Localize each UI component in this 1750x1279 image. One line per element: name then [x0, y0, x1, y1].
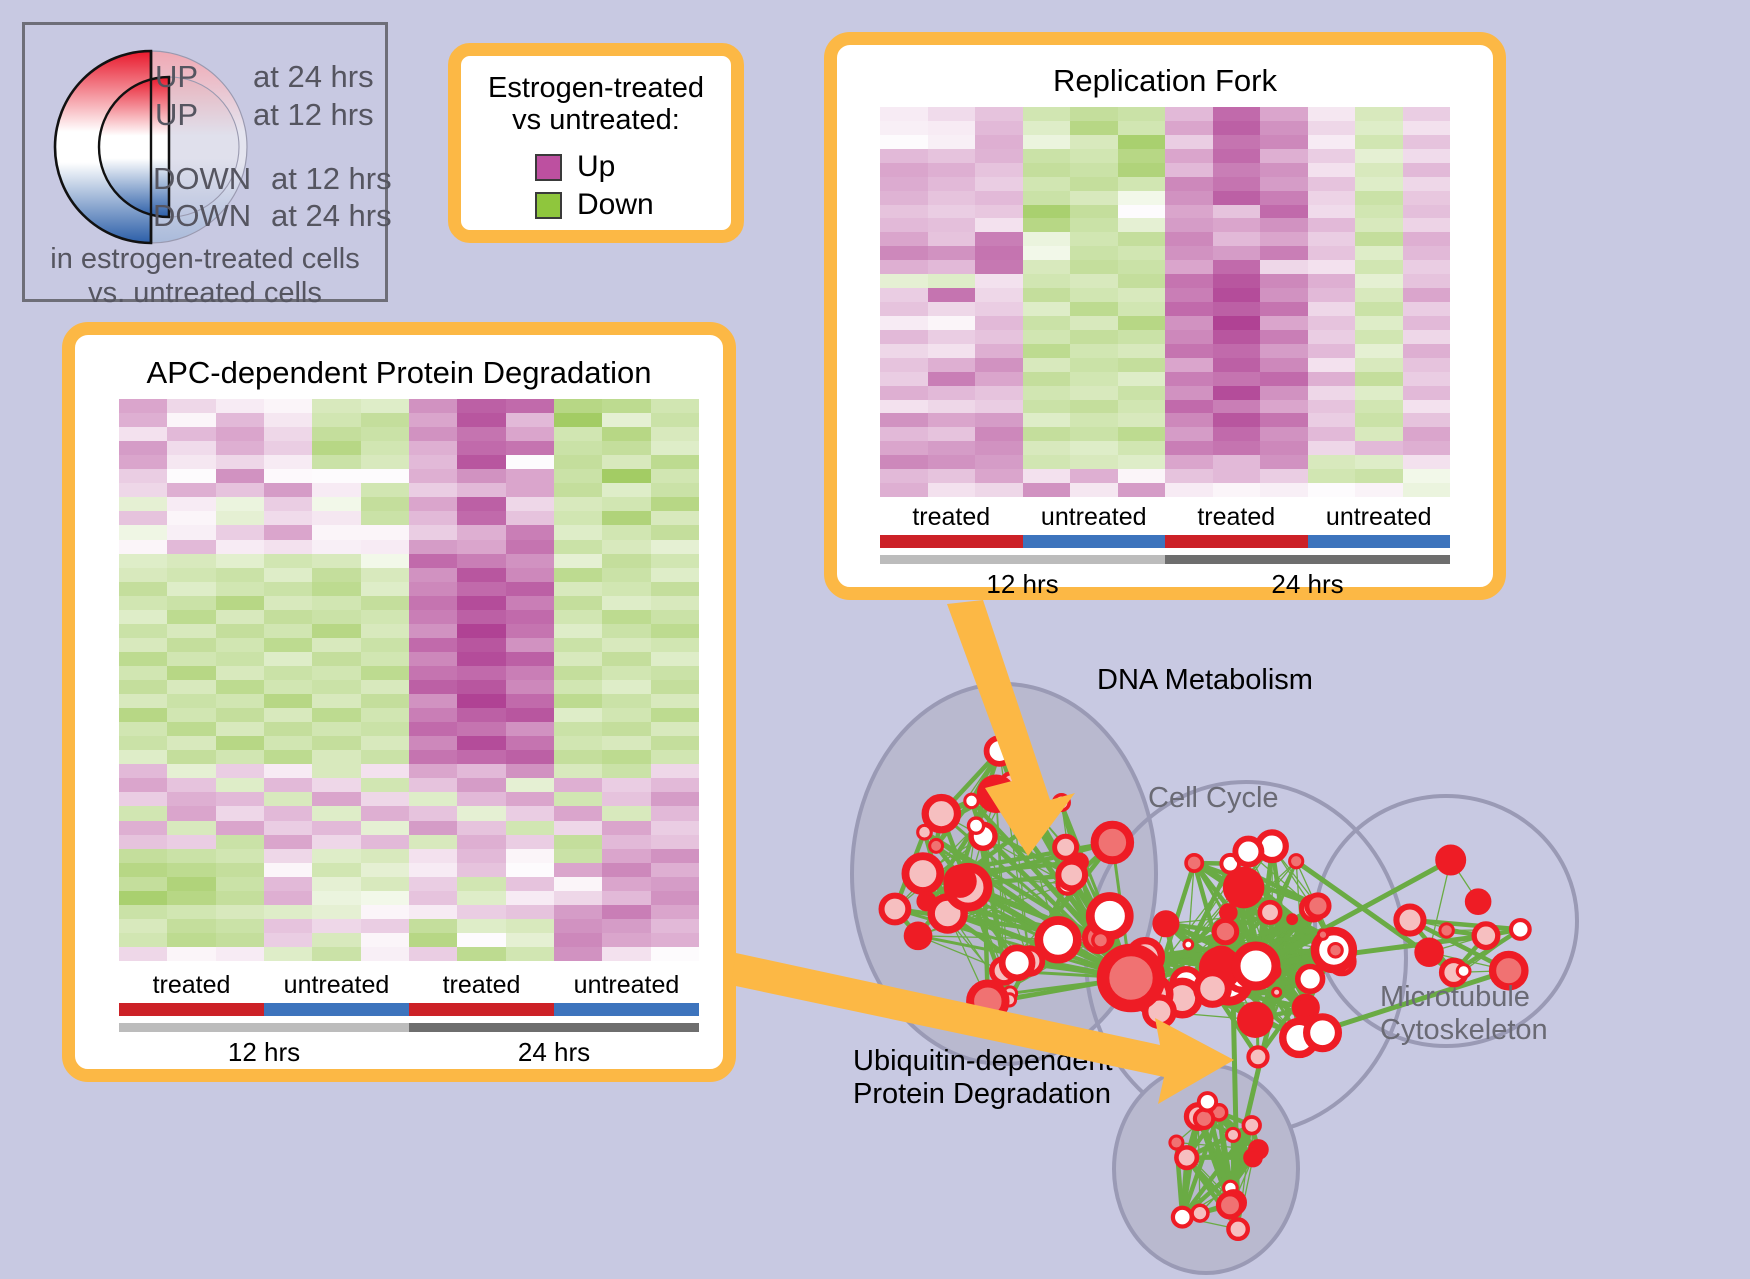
heatmap-cell	[264, 792, 312, 806]
heatmap-cell	[457, 863, 505, 877]
heatmap-cell	[361, 638, 409, 652]
heatmap-cell	[1308, 260, 1356, 274]
heatmap-cell	[457, 441, 505, 455]
legend-heading-line2: vs untreated:	[461, 104, 731, 136]
network-node[interactable]	[1170, 1136, 1183, 1149]
network-node[interactable]	[1288, 915, 1297, 924]
heatmap-cell	[312, 540, 360, 554]
network-node[interactable]	[905, 856, 940, 891]
heatmap-cell	[1213, 274, 1261, 288]
heatmap-cell	[1403, 205, 1451, 219]
network-node[interactable]	[1307, 1017, 1339, 1049]
heatmap-cell	[312, 511, 360, 525]
heatmap-cell	[554, 891, 602, 905]
colorwheel-caption-line1: in estrogen-treated cells	[25, 243, 385, 276]
network-node[interactable]	[1235, 839, 1261, 865]
heatmap-cell	[312, 427, 360, 441]
apc-condition-labels: treateduntreatedtreateduntreated	[119, 971, 699, 1000]
heatmap-cell	[167, 624, 215, 638]
heatmap-cell	[1118, 232, 1166, 246]
heatmap-cell	[167, 399, 215, 413]
condition-color-bar	[264, 1003, 409, 1016]
heatmap-cell	[1165, 218, 1213, 232]
heatmap-cell	[1403, 413, 1451, 427]
pathway-network-diagram	[786, 606, 1750, 1279]
network-node[interactable]	[1103, 950, 1159, 1006]
heatmap-cell	[1023, 483, 1071, 497]
network-node[interactable]	[930, 839, 943, 852]
heatmap-cell	[1118, 288, 1166, 302]
network-node[interactable]	[977, 774, 1016, 813]
heatmap-cell	[216, 905, 264, 919]
heatmap-cell	[409, 877, 457, 891]
network-node[interactable]	[1214, 920, 1237, 943]
heatmap-cell	[1403, 135, 1451, 149]
heatmap-cell	[119, 399, 167, 413]
heatmap-cell	[1213, 121, 1261, 135]
network-node[interactable]	[1197, 973, 1229, 1005]
heatmap-cell	[167, 596, 215, 610]
heatmap-cell	[312, 497, 360, 511]
network-node[interactable]	[1055, 836, 1077, 858]
heatmap-cell	[1355, 191, 1403, 205]
heatmap-cell	[1070, 121, 1118, 135]
heatmap-cell	[167, 554, 215, 568]
heatmap-cell	[880, 400, 928, 414]
heatmap-cell	[1308, 191, 1356, 205]
heatmap-cell	[1023, 413, 1071, 427]
heatmap-cell	[928, 218, 976, 232]
network-node[interactable]	[1438, 847, 1463, 872]
heatmap-cell	[975, 344, 1023, 358]
network-node[interactable]	[1457, 965, 1470, 978]
heatmap-cell	[1165, 316, 1213, 330]
heatmap-cell	[1403, 344, 1451, 358]
heatmap-cell	[216, 427, 264, 441]
heatmap-cell	[119, 905, 167, 919]
heatmap-cell	[651, 525, 699, 539]
heatmap-cell	[264, 877, 312, 891]
heatmap-cell	[1308, 107, 1356, 121]
heatmap-cell	[216, 469, 264, 483]
heatmap-cell	[880, 386, 928, 400]
heatmap-cell	[506, 877, 554, 891]
heatmap-cell	[554, 708, 602, 722]
heatmap-cell	[312, 750, 360, 764]
heatmap-cell	[506, 835, 554, 849]
heatmap-cell	[409, 694, 457, 708]
heatmap-cell	[880, 427, 928, 441]
heatmap-cell	[457, 905, 505, 919]
network-node[interactable]	[1002, 948, 1032, 978]
heatmap-cell	[409, 792, 457, 806]
heatmap-cell	[1403, 288, 1451, 302]
heatmap-cell	[119, 933, 167, 947]
network-node[interactable]	[1199, 1093, 1216, 1110]
heatmap-cell	[602, 877, 650, 891]
heatmap-cell	[1213, 455, 1261, 469]
heatmap-cell	[119, 413, 167, 427]
network-node[interactable]	[1273, 988, 1281, 996]
heatmap-cell	[880, 288, 928, 302]
heatmap-cell	[167, 722, 215, 736]
network-node[interactable]	[1290, 855, 1303, 868]
heatmap-cell	[602, 806, 650, 820]
heatmap-cell	[1308, 121, 1356, 135]
network-node[interactable]	[1474, 924, 1498, 948]
heatmap-cell	[409, 806, 457, 820]
heatmap-cell	[880, 469, 928, 483]
apc-time-bar	[119, 1023, 699, 1032]
heatmap-cell	[1355, 469, 1403, 483]
heatmap-cell	[119, 652, 167, 666]
heatmap-cell	[602, 441, 650, 455]
heatmap-cell	[1355, 163, 1403, 177]
heatmap-cell	[216, 877, 264, 891]
heatmap-cell	[880, 177, 928, 191]
network-node[interactable]	[1058, 862, 1085, 889]
heatmap-cell	[975, 218, 1023, 232]
heatmap-cell	[409, 497, 457, 511]
heatmap-cell	[1118, 218, 1166, 232]
network-node[interactable]	[1221, 905, 1236, 920]
heatmap-cell	[264, 554, 312, 568]
heatmap-cell	[264, 427, 312, 441]
heatmap-cell	[554, 694, 602, 708]
heatmap-cell	[1165, 483, 1213, 497]
legend-label-up: Up	[577, 152, 615, 182]
heatmap-cell	[1023, 358, 1071, 372]
condition-label: treated	[1165, 503, 1308, 532]
heatmap-cell	[167, 877, 215, 891]
heatmap-cell	[119, 666, 167, 680]
heatmap-cell	[167, 821, 215, 835]
network-node[interactable]	[1176, 1147, 1197, 1168]
network-node[interactable]	[1236, 946, 1276, 986]
heatmap-cell	[554, 483, 602, 497]
heatmap-cell	[167, 540, 215, 554]
heatmap-cell	[602, 821, 650, 835]
colorwheel-term-up-12: UP	[155, 97, 198, 133]
heatmap-cell	[880, 135, 928, 149]
heatmap-cell	[216, 750, 264, 764]
heatmap-cell	[651, 441, 699, 455]
heatmap-cell	[361, 427, 409, 441]
heatmap-cell	[602, 568, 650, 582]
heatmap-cell	[602, 849, 650, 863]
network-node[interactable]	[1039, 920, 1078, 959]
heatmap-cell	[167, 764, 215, 778]
network-node[interactable]	[1467, 891, 1489, 913]
replication-fork-condition-bar	[880, 535, 1450, 548]
network-node[interactable]	[882, 896, 909, 923]
heatmap-cell	[167, 919, 215, 933]
heatmap-cell	[554, 905, 602, 919]
network-node[interactable]	[1396, 907, 1423, 934]
network-node[interactable]	[904, 921, 933, 950]
network-node[interactable]	[943, 865, 976, 898]
heatmap-cell	[1118, 483, 1166, 497]
heatmap-cell	[1213, 358, 1261, 372]
heatmap-cell	[1260, 302, 1308, 316]
heatmap-cell	[361, 877, 409, 891]
network-node[interactable]	[1155, 913, 1177, 935]
heatmap-cell	[361, 441, 409, 455]
heatmap-cell	[928, 135, 976, 149]
network-node[interactable]	[1095, 825, 1131, 861]
heatmap-cell	[1260, 344, 1308, 358]
heatmap-cell	[975, 149, 1023, 163]
heatmap-cell	[409, 835, 457, 849]
heatmap-cell	[651, 554, 699, 568]
heatmap-cell	[1023, 260, 1071, 274]
network-node[interactable]	[1184, 940, 1193, 949]
heatmap-cell	[602, 736, 650, 750]
heatmap-cell	[506, 736, 554, 750]
heatmap-cell	[880, 330, 928, 344]
heatmap-cell	[409, 680, 457, 694]
heatmap-cell	[1165, 107, 1213, 121]
figure-root: UP at 24 hrs UP at 12 hrs DOWN at 12 hrs…	[0, 0, 1750, 1279]
heatmap-cell	[409, 427, 457, 441]
network-node[interactable]	[925, 798, 957, 830]
network-node[interactable]	[970, 984, 1005, 1019]
network-node[interactable]	[1195, 1110, 1213, 1128]
network-node[interactable]	[1414, 937, 1444, 967]
heatmap-cell	[880, 246, 928, 260]
heatmap-cell	[1308, 274, 1356, 288]
heatmap-cell	[1260, 441, 1308, 455]
network-node[interactable]	[1298, 966, 1323, 991]
heatmap-cell	[1260, 386, 1308, 400]
heatmap-cell	[409, 441, 457, 455]
heatmap-cell	[119, 540, 167, 554]
heatmap-cell	[554, 596, 602, 610]
heatmap-cell	[216, 652, 264, 666]
heatmap-cell	[1308, 163, 1356, 177]
heatmap-cell	[1213, 344, 1261, 358]
heatmap-cell	[1165, 372, 1213, 386]
heatmap-cell	[361, 469, 409, 483]
heatmap-cell	[554, 441, 602, 455]
heatmap-cell	[506, 624, 554, 638]
replication-fork-title: Replication Fork	[837, 63, 1493, 99]
network-node[interactable]	[1237, 1001, 1273, 1037]
heatmap-cell	[880, 107, 928, 121]
heatmap-cell	[216, 821, 264, 835]
heatmap-cell	[554, 469, 602, 483]
heatmap-cell	[602, 540, 650, 554]
heatmap-cell	[602, 863, 650, 877]
heatmap-cell	[602, 666, 650, 680]
network-node[interactable]	[987, 738, 1013, 764]
network-node[interactable]	[1440, 924, 1453, 937]
heatmap-cell	[1165, 191, 1213, 205]
heatmap-cell	[651, 877, 699, 891]
heatmap-cell	[1118, 149, 1166, 163]
network-node[interactable]	[1245, 1150, 1261, 1166]
network-node[interactable]	[1093, 932, 1109, 948]
heatmap-cell	[409, 736, 457, 750]
heatmap-cell	[1260, 316, 1308, 330]
heatmap-cell	[651, 540, 699, 554]
network-node[interactable]	[1173, 1208, 1192, 1227]
heatmap-cell	[506, 821, 554, 835]
heatmap-cell	[1023, 469, 1071, 483]
time-label: 12 hrs	[880, 569, 1165, 600]
heatmap-cell	[1165, 232, 1213, 246]
heatmap-cell	[119, 596, 167, 610]
heatmap-cell	[1403, 441, 1451, 455]
network-node[interactable]	[1054, 795, 1070, 811]
heatmap-cell	[167, 582, 215, 596]
heatmap-cell	[651, 905, 699, 919]
heatmap-cell	[506, 554, 554, 568]
heatmap-cell	[651, 652, 699, 666]
heatmap-cell	[1023, 218, 1071, 232]
heatmap-cell	[216, 596, 264, 610]
heatmap-cell	[1023, 274, 1071, 288]
heatmap-cell	[312, 736, 360, 750]
heatmap-cell	[361, 554, 409, 568]
heatmap-cell	[554, 624, 602, 638]
time-color-bar	[880, 555, 1165, 564]
condition-label: treated	[409, 971, 554, 1000]
heatmap-cell	[119, 483, 167, 497]
heatmap-cell	[1070, 400, 1118, 414]
heatmap-cell	[1070, 344, 1118, 358]
heatmap-cell	[1165, 260, 1213, 274]
network-node[interactable]	[1186, 855, 1202, 871]
heatmap-cell	[651, 427, 699, 441]
heatmap-cell	[880, 413, 928, 427]
heatmap-cell	[1308, 441, 1356, 455]
heatmap-cell	[361, 835, 409, 849]
heatmap-cell	[409, 750, 457, 764]
network-node[interactable]	[1090, 896, 1129, 935]
heatmap-cell	[651, 708, 699, 722]
heatmap-cell	[361, 483, 409, 497]
condition-label: treated	[880, 503, 1023, 532]
network-node[interactable]	[1192, 1205, 1208, 1221]
heatmap-cell	[1070, 107, 1118, 121]
heatmap-cell	[264, 469, 312, 483]
heatmap-cell	[264, 708, 312, 722]
heatmap-cell	[880, 316, 928, 330]
heatmap-cell	[264, 540, 312, 554]
cluster-label-cell-cycle: Cell Cycle	[1148, 782, 1279, 815]
network-node[interactable]	[1243, 1117, 1260, 1134]
heatmap-cell	[361, 568, 409, 582]
heatmap-cell	[216, 680, 264, 694]
heatmap-cell	[928, 246, 976, 260]
heatmap-cell	[264, 638, 312, 652]
network-node[interactable]	[1218, 1194, 1241, 1217]
heatmap-cell	[1213, 135, 1261, 149]
heatmap-cell	[554, 511, 602, 525]
network-node[interactable]	[965, 794, 978, 807]
network-node[interactable]	[1227, 1128, 1240, 1141]
heatmap-cell	[119, 821, 167, 835]
network-node[interactable]	[918, 893, 934, 909]
colorwheel-term-down-24: DOWN	[153, 198, 251, 234]
heatmap-cell	[928, 483, 976, 497]
time-label: 12 hrs	[119, 1037, 409, 1068]
heatmap-cell	[1213, 441, 1261, 455]
heatmap-cell	[457, 806, 505, 820]
heatmap-cell	[1355, 358, 1403, 372]
heatmap-cell	[1165, 302, 1213, 316]
heatmap-cell	[554, 919, 602, 933]
heatmap-cell	[1023, 344, 1071, 358]
heatmap-cell	[1165, 358, 1213, 372]
heatmap-cell	[1355, 344, 1403, 358]
heatmap-cell	[361, 750, 409, 764]
network-node[interactable]	[1307, 895, 1329, 917]
heatmap-cell	[975, 469, 1023, 483]
heatmap-cell	[361, 863, 409, 877]
heatmap-cell	[554, 863, 602, 877]
heatmap-cell	[361, 413, 409, 427]
heatmap-cell	[1403, 177, 1451, 191]
heatmap-cell	[1070, 149, 1118, 163]
heatmap-cell	[928, 260, 976, 274]
network-node[interactable]	[968, 818, 983, 833]
heatmap-cell	[1070, 358, 1118, 372]
heatmap-cell	[975, 372, 1023, 386]
apc-condition-bar	[119, 1003, 699, 1016]
network-node[interactable]	[1249, 1047, 1268, 1066]
heatmap-cell	[312, 694, 360, 708]
heatmap-cell	[1070, 246, 1118, 260]
heatmap-cell	[651, 582, 699, 596]
heatmap-cell	[975, 413, 1023, 427]
heatmap-cell	[506, 413, 554, 427]
heatmap-cell	[312, 919, 360, 933]
heatmap-cell	[1070, 455, 1118, 469]
heatmap-cell	[975, 441, 1023, 455]
heatmap-cell	[1308, 288, 1356, 302]
heatmap-cell	[119, 568, 167, 582]
heatmap-cell	[506, 525, 554, 539]
heatmap-cell	[167, 849, 215, 863]
heatmap-cell	[264, 413, 312, 427]
network-node[interactable]	[1329, 943, 1343, 957]
heatmap-cell	[1213, 483, 1261, 497]
condition-color-bar	[554, 1003, 699, 1016]
network-node[interactable]	[1260, 902, 1280, 922]
network-node[interactable]	[1318, 930, 1327, 939]
heatmap-cell	[264, 750, 312, 764]
heatmap-cell	[602, 638, 650, 652]
heatmap-cell	[506, 694, 554, 708]
heatmap-cell	[167, 455, 215, 469]
heatmap-cell	[167, 497, 215, 511]
heatmap-cell	[975, 107, 1023, 121]
heatmap-cell	[975, 400, 1023, 414]
network-node[interactable]	[1228, 1219, 1247, 1238]
heatmap-cell	[216, 694, 264, 708]
heatmap-cell	[361, 792, 409, 806]
heatmap-cell	[312, 947, 360, 961]
network-node[interactable]	[1511, 920, 1530, 939]
heatmap-cell	[1260, 135, 1308, 149]
heatmap-cell	[264, 835, 312, 849]
heatmap-cell	[409, 863, 457, 877]
heatmap-cell	[975, 274, 1023, 288]
heatmap-cell	[1023, 427, 1071, 441]
heatmap-cell	[361, 497, 409, 511]
